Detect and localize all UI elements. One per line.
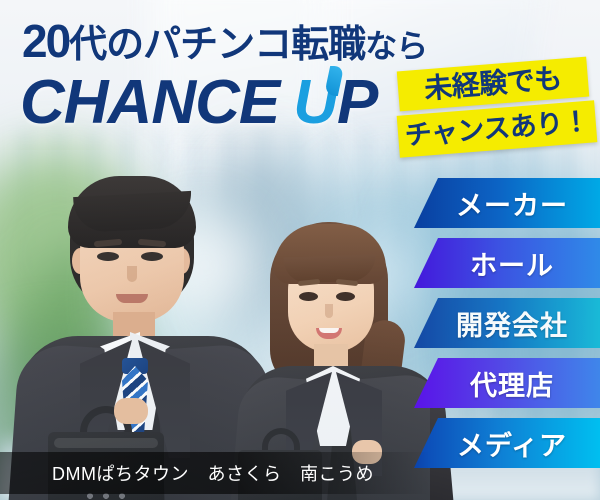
people-photo (0, 150, 430, 500)
category-label: メディア (414, 424, 600, 463)
category-label: 開発会社 (414, 304, 600, 343)
category-label: メーカー (414, 184, 600, 223)
promo-badge-text-2: チャンスあり！ (404, 108, 590, 149)
woman-eye-left (299, 292, 318, 301)
woman-nose (325, 304, 333, 318)
category-item-hall[interactable]: ホール (414, 238, 600, 288)
man-mouth (116, 294, 148, 303)
banner-ad[interactable]: 20代のパチンコ転職なら CHANCEUP 未経験でも チャンスあり！ メーカー… (0, 0, 600, 500)
footer-credit-strip: DMMぱちタウン あさくら 南こうめ (0, 452, 430, 494)
category-list: メーカー ホール 開発会社 代理店 メディア (414, 178, 600, 468)
person-man (18, 170, 268, 500)
logo-letter-u: U (293, 72, 337, 134)
man-nose (127, 266, 137, 282)
category-label: 代理店 (414, 364, 600, 403)
category-item-agency[interactable]: 代理店 (414, 358, 600, 408)
headline-body: 代のパチンコ転職 (69, 24, 365, 66)
promo-badge: 未経験でも チャンスあり！ (398, 58, 596, 156)
man-eye-left (97, 252, 119, 261)
logo-word-chance: CHANCE (20, 68, 279, 137)
footer-credit-text: DMMぱちタウン あさくら 南こうめ (0, 460, 374, 486)
headline-text: 20代のパチンコ転職なら (22, 18, 427, 64)
woman-eye-right (336, 292, 355, 301)
category-item-developer[interactable]: 開発会社 (414, 298, 600, 348)
man-hand (114, 398, 148, 424)
promo-badge-text-1: 未経験でも (423, 65, 562, 104)
headline-number: 20 (22, 15, 69, 67)
logo-chance-up: CHANCEUP (20, 72, 377, 134)
man-briefcase-highlight (54, 438, 158, 448)
woman-teeth (319, 328, 339, 333)
category-label: ホール (414, 244, 600, 283)
logo-letter-p: P (337, 68, 377, 137)
category-item-maker[interactable]: メーカー (414, 178, 600, 228)
man-eye-right (141, 252, 163, 261)
category-item-media[interactable]: メディア (414, 418, 600, 468)
